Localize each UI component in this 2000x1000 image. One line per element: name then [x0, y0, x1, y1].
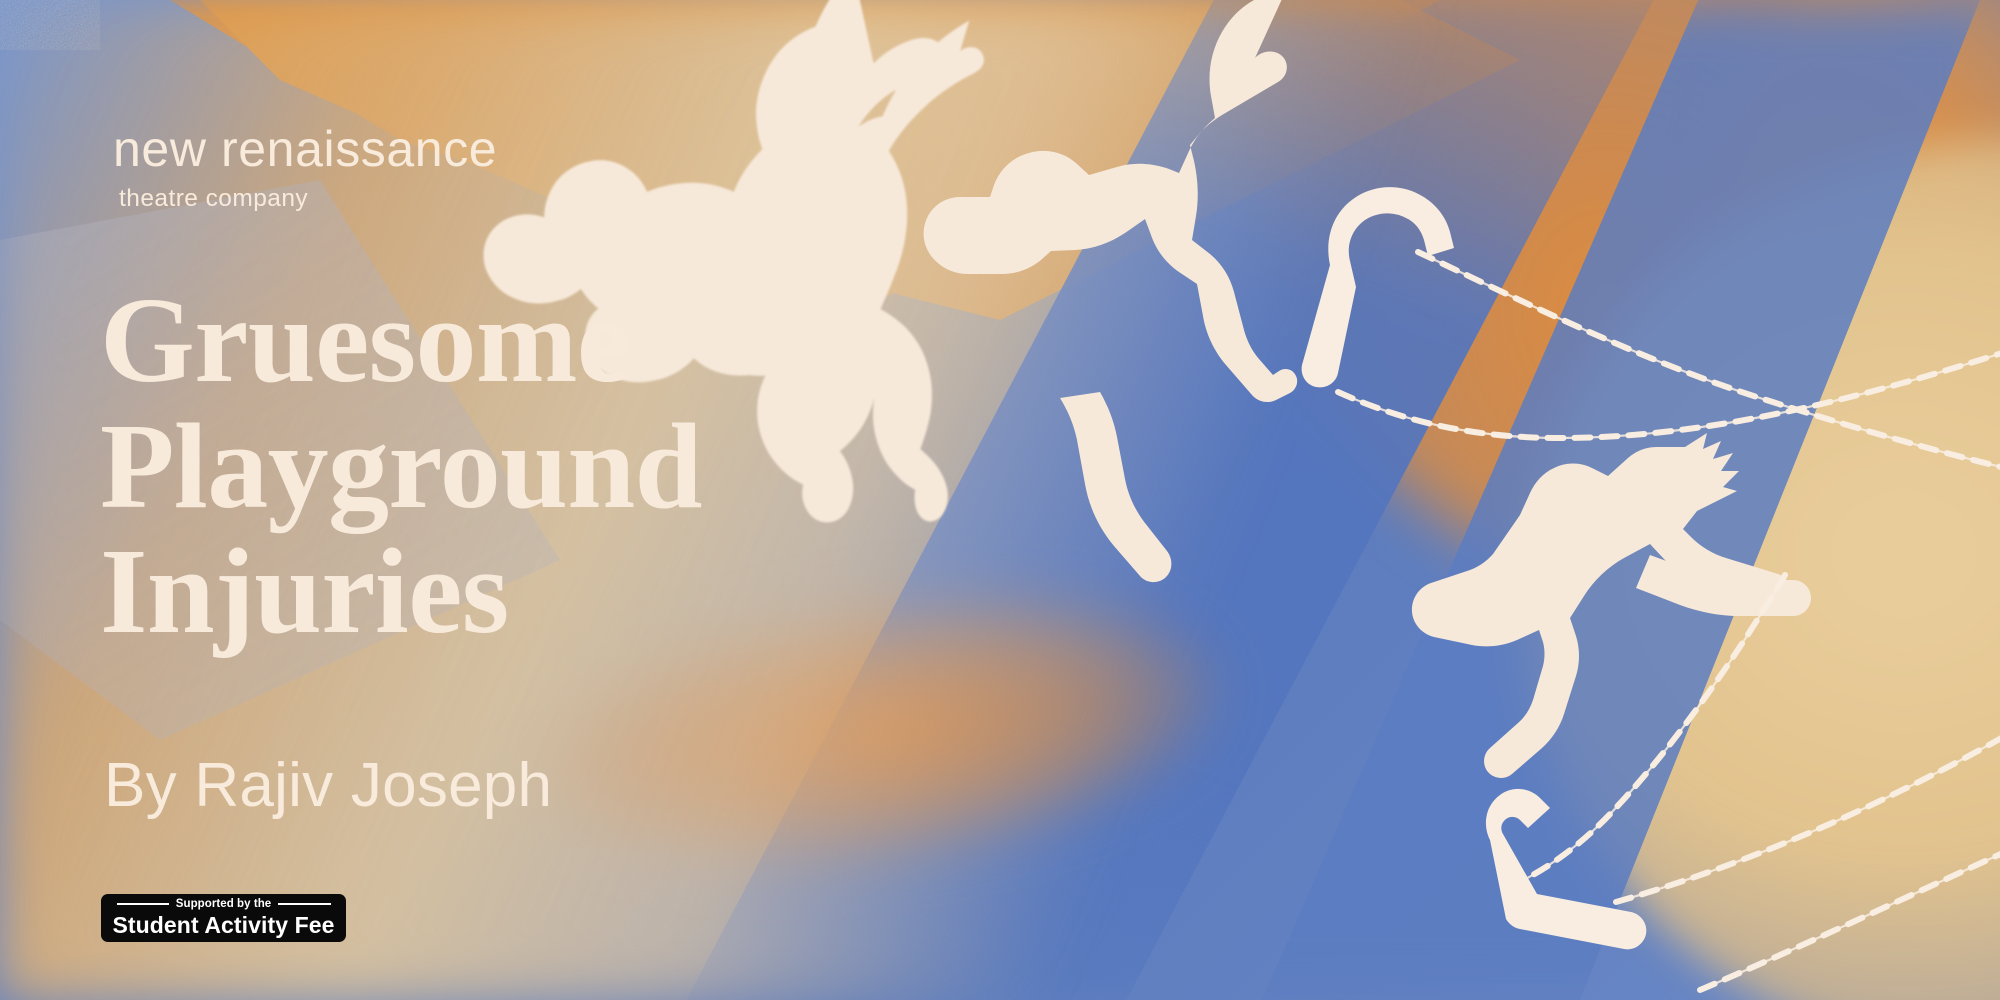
badge-kicker-row: Supported by the	[117, 898, 331, 910]
company-name: new renaissance	[113, 124, 633, 174]
page-title: Gruesome Playground Injuries	[100, 278, 860, 655]
poster-text-content: new renaissance theatre company Gruesome…	[0, 0, 900, 1000]
company-logo[interactable]: new renaissance theatre company	[113, 124, 633, 212]
title-line-2: Playground	[100, 404, 860, 530]
status-badge: Supported by the Student Activity Fee	[101, 894, 346, 942]
company-tagline: theatre company	[119, 187, 633, 212]
badge-label: Student Activity Fee	[112, 912, 334, 939]
badge-rule-left	[117, 903, 169, 905]
badge-rule-right	[278, 903, 330, 905]
poster-canvas: new renaissance theatre company Gruesome…	[0, 0, 2000, 1000]
title-line-1: Gruesome	[100, 278, 860, 404]
title-line-3: Injuries	[100, 529, 860, 655]
playwright-byline: By Rajiv Joseph	[104, 750, 552, 821]
badge-kicker-text: Supported by the	[176, 898, 271, 910]
figure-upper-leg	[1060, 392, 1171, 582]
